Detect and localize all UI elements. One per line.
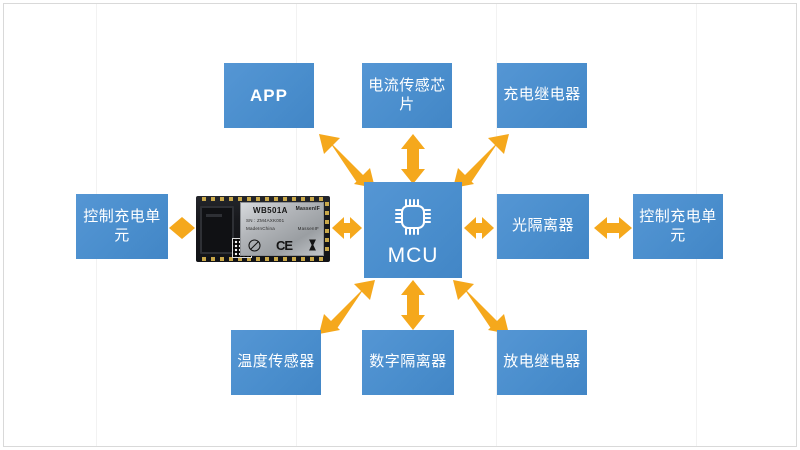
arrow-mcu-to-temperature-sensor xyxy=(316,278,378,336)
arrow-control-unit-left-to-module xyxy=(169,216,195,240)
node-optical-isolator-label: 光隔离器 xyxy=(512,217,574,236)
module-pads-bottom xyxy=(202,257,324,261)
arrow-mcu-to-optical-isolator xyxy=(464,216,494,240)
node-discharge-relay[interactable]: 放电继电器 xyxy=(497,330,587,395)
node-charge-relay-label: 充电继电器 xyxy=(503,86,581,105)
module-brand: MassenIF xyxy=(296,206,320,212)
module-origin-row: MadeInChina MassenIF xyxy=(246,226,319,231)
node-control-charge-unit-left-label: 控制充电单元 xyxy=(82,208,162,246)
node-temperature-sensor[interactable]: 温度传感器 xyxy=(231,330,321,395)
module-certification-marks: CE xyxy=(248,236,318,254)
node-charge-relay[interactable]: 充电继电器 xyxy=(497,63,587,128)
node-digital-isolator[interactable]: 数字隔离器 xyxy=(362,330,454,395)
node-control-charge-unit-right[interactable]: 控制充电单元 xyxy=(633,194,723,259)
rohs-icon xyxy=(248,239,261,252)
module-brand-secondary: MassenIF xyxy=(298,226,319,231)
module-serial: SN : ZM4AXK001 xyxy=(246,218,284,223)
node-mcu[interactable]: MCU xyxy=(364,182,462,278)
node-digital-isolator-label: 数字隔离器 xyxy=(369,353,447,372)
arrow-current-sensor-to-mcu xyxy=(401,134,425,184)
node-mcu-label: MCU xyxy=(388,243,439,269)
diagram-slide: APP 电流传感芯片 充电继电器 控制充电单元 WB501A MassenIF … xyxy=(0,0,800,450)
chip-icon xyxy=(391,195,435,239)
module-origin: MadeInChina xyxy=(246,226,275,231)
node-app[interactable]: APP xyxy=(224,63,314,128)
node-current-sensor-chip-label: 电流传感芯片 xyxy=(368,77,446,115)
module-pads-top xyxy=(202,197,324,201)
node-optical-isolator[interactable]: 光隔离器 xyxy=(497,194,589,259)
arrow-mcu-to-digital-isolator xyxy=(401,280,425,330)
arrow-optical-isolator-to-control-unit-right xyxy=(594,216,632,240)
module-part-number: WB501A xyxy=(253,206,288,215)
module-shield-can: WB501A MassenIF SN : ZM4AXK001 MadeInChi… xyxy=(240,202,324,256)
arrow-module-to-mcu xyxy=(332,216,362,240)
module-pads-right xyxy=(325,202,329,256)
node-control-charge-unit-left[interactable]: 控制充电单元 xyxy=(76,194,168,259)
arrow-mcu-to-discharge-relay xyxy=(450,278,512,336)
node-temperature-sensor-label: 温度传感器 xyxy=(237,353,315,372)
ce-mark: CE xyxy=(276,238,292,253)
wb501a-module-photo: WB501A MassenIF SN : ZM4AXK001 MadeInChi… xyxy=(196,196,330,262)
node-discharge-relay-label: 放电继电器 xyxy=(503,353,581,372)
node-current-sensor-chip[interactable]: 电流传感芯片 xyxy=(362,63,452,128)
node-app-label: APP xyxy=(250,85,288,106)
module-pcb-antenna xyxy=(200,206,234,254)
node-control-charge-unit-right-label: 控制充电单元 xyxy=(639,208,717,246)
weee-icon xyxy=(307,238,318,252)
